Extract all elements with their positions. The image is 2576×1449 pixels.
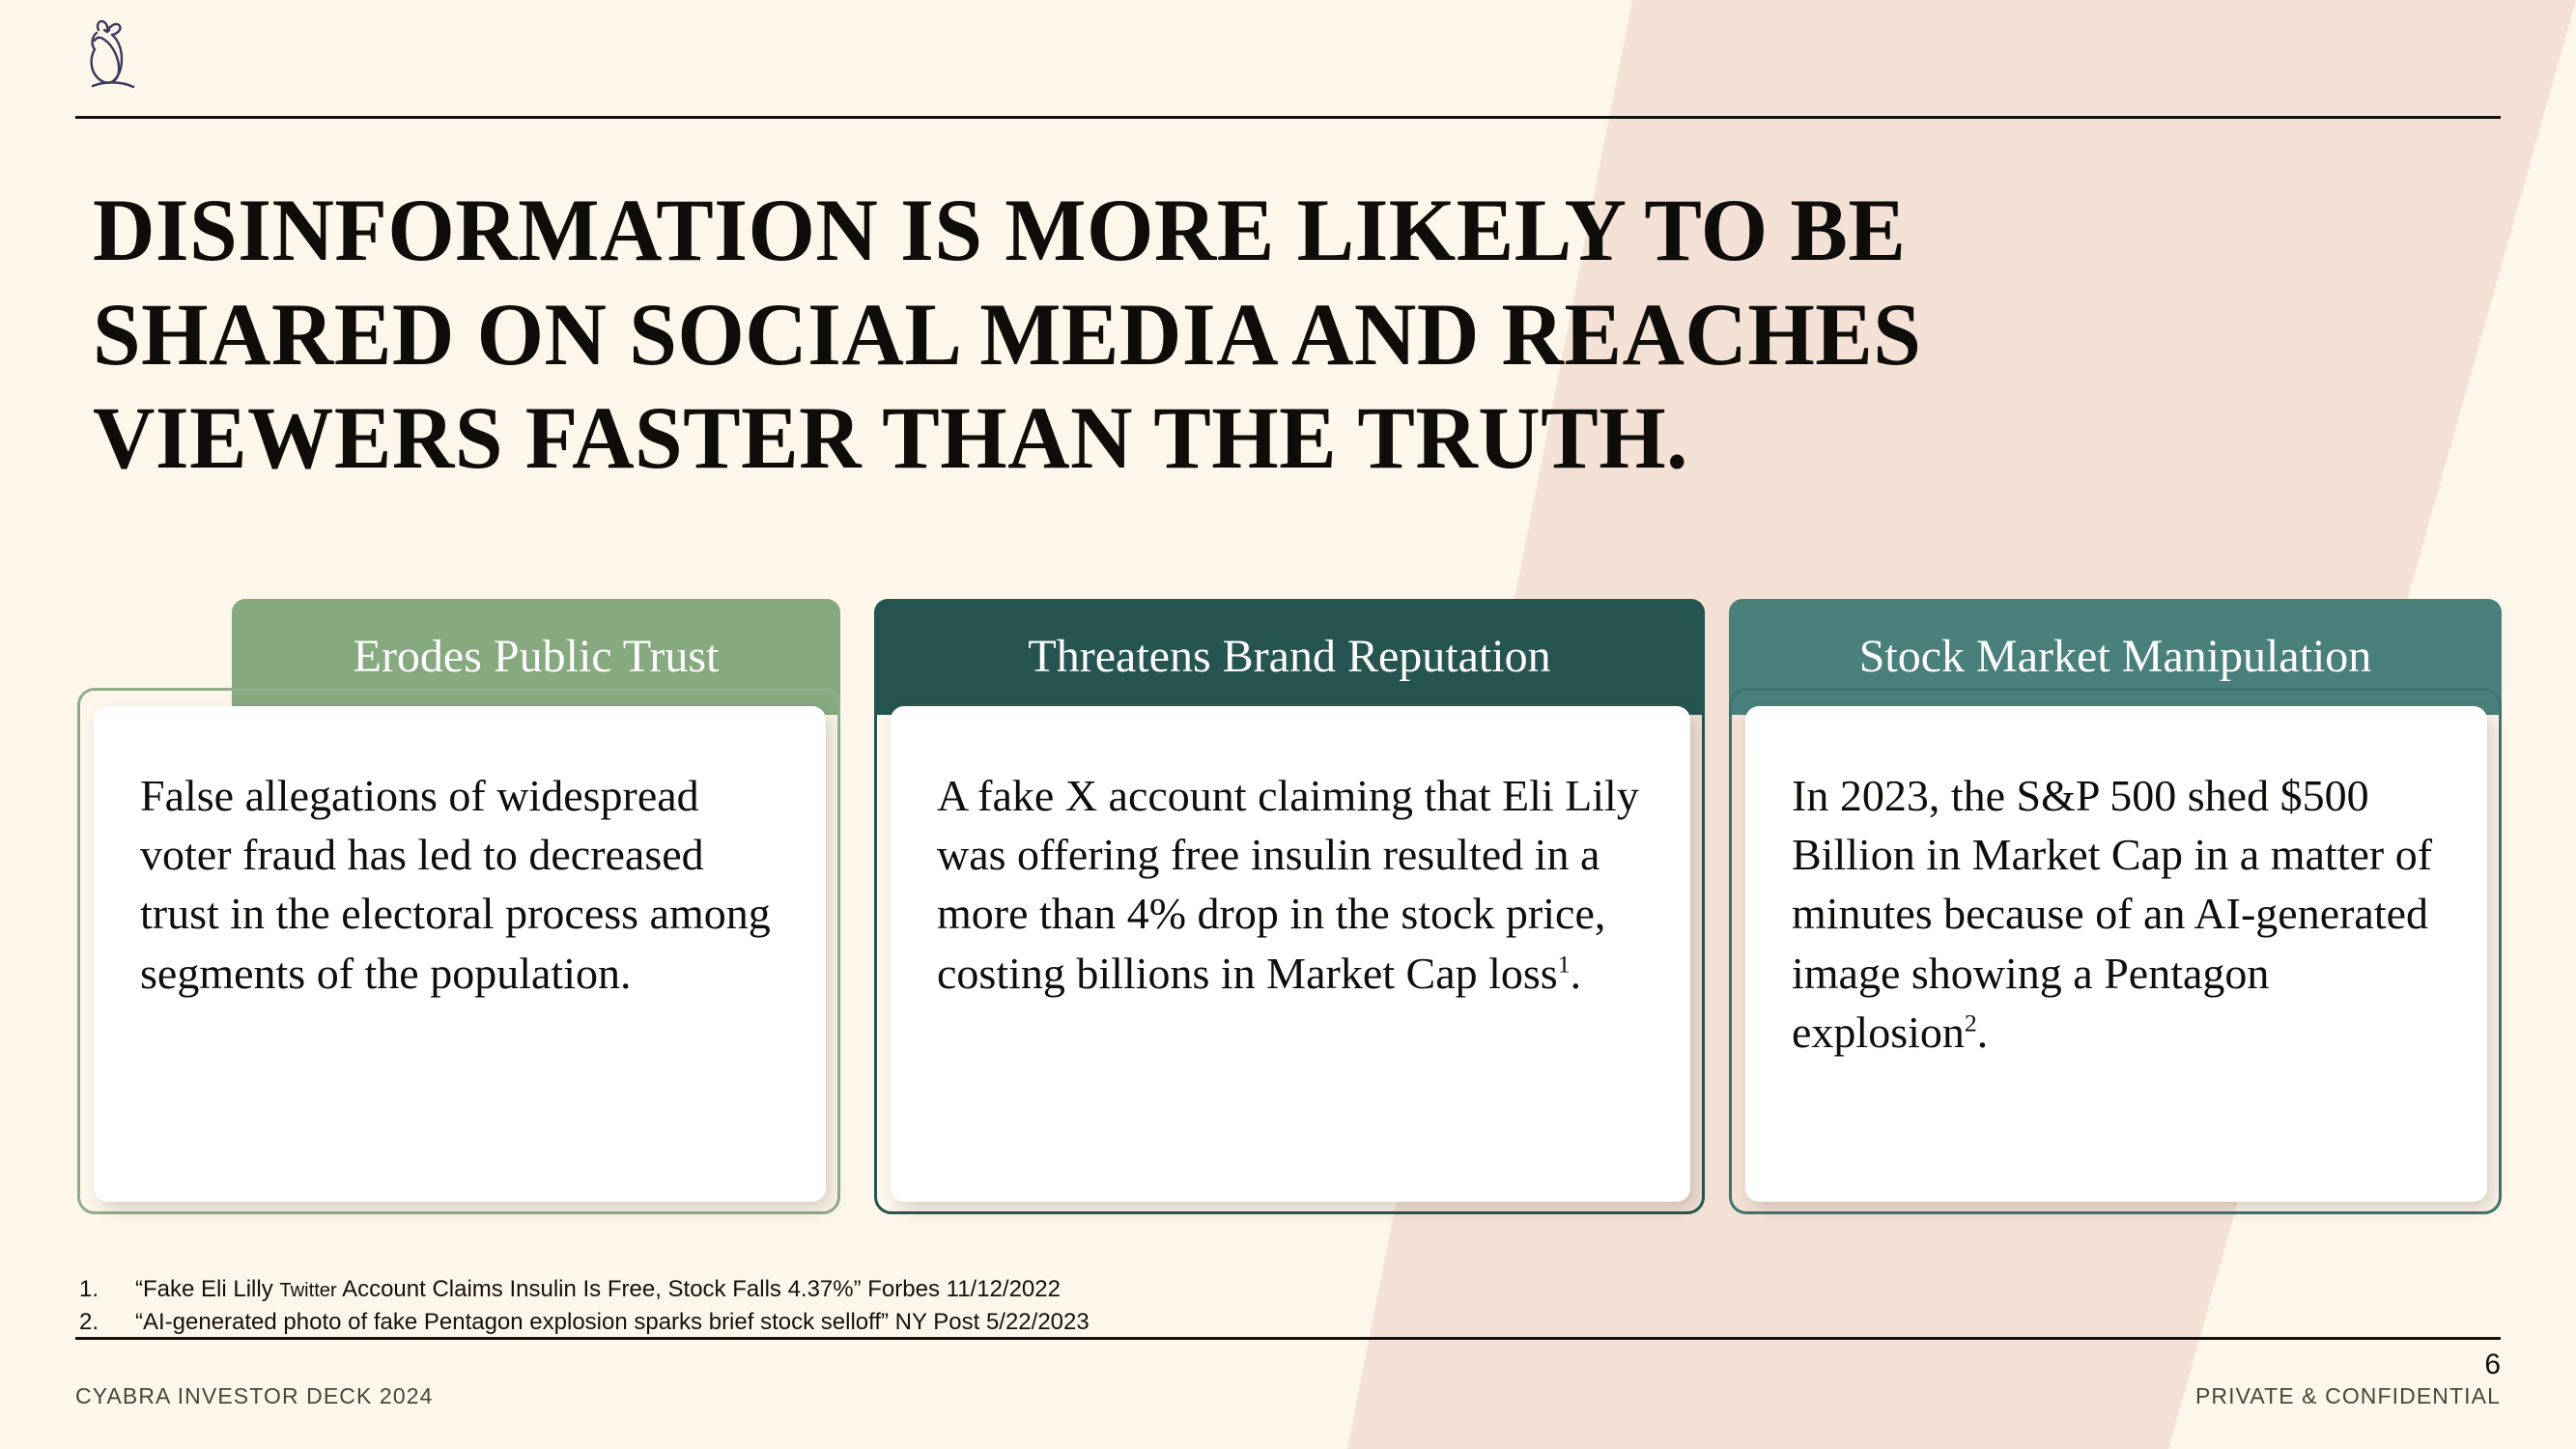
footnote-text-1: “Fake Eli Lilly Twitter Account Claims I… [135, 1273, 1061, 1306]
card-frame-1: False allegations of widespread voter fr… [77, 688, 840, 1214]
footnote-part1-1: “Fake Eli Lilly [135, 1276, 279, 1302]
card-stock-market-manipulation: Stock Market Manipulation In 2023, the S… [1729, 599, 2502, 1275]
footnote-small-1: Twitter [279, 1280, 336, 1301]
card-header-label-3: Stock Market Manipulation [1859, 634, 2372, 680]
card-body-text-1: False allegations of widespread voter fr… [140, 771, 771, 998]
owl-logo-icon [75, 14, 145, 97]
footnotes-list: 1. “Fake Eli Lilly Twitter Account Claim… [79, 1273, 2011, 1339]
card-body-superscript-3: 2 [1965, 1009, 1977, 1037]
card-threatens-brand-reputation: Threatens Brand Reputation A fake X acco… [874, 599, 1705, 1275]
card-inner-panel-2: A fake X account claiming that Eli Lily … [891, 706, 1690, 1202]
page-title: DISINFORMATION IS MORE LIKELY TO BE SHAR… [93, 179, 2136, 491]
card-body-text-3: In 2023, the S&P 500 shed $500 Billion i… [1792, 771, 2432, 1057]
card-inner-panel-1: False allegations of widespread voter fr… [94, 706, 826, 1202]
card-body-tail-3: . [1977, 1008, 1989, 1057]
card-body-text-2: A fake X account claiming that Eli Lily … [937, 771, 1639, 998]
footer-confidential-label: PRIVATE & CONFIDENTIAL [2195, 1383, 2501, 1409]
footnote-item: 2. “AI-generated photo of fake Pentagon … [79, 1306, 2011, 1339]
card-body-3: In 2023, the S&P 500 shed $500 Billion i… [1792, 766, 2441, 1062]
footer-deck-label: CYABRA INVESTOR DECK 2024 [75, 1383, 434, 1409]
footnote-part2-1: Account Claims Insulin Is Free, Stock Fa… [337, 1276, 1061, 1302]
card-body-superscript-2: 1 [1558, 950, 1571, 978]
card-header-label-2: Threatens Brand Reputation [1028, 634, 1550, 680]
footnote-part1-2: “AI-generated photo of fake Pentagon exp… [135, 1309, 1090, 1335]
owl-logo-svg [75, 14, 145, 97]
card-frame-2: A fake X account claiming that Eli Lily … [874, 688, 1705, 1214]
page-number: 6 [2484, 1349, 2501, 1381]
footnote-item: 1. “Fake Eli Lilly Twitter Account Claim… [79, 1273, 2011, 1306]
card-body-1: False allegations of widespread voter fr… [140, 766, 779, 1003]
footer-divider [75, 1337, 2501, 1340]
slide: DISINFORMATION IS MORE LIKELY TO BE SHAR… [0, 0, 2576, 1449]
card-erodes-public-trust: Erodes Public Trust False allegations of… [77, 599, 840, 1275]
card-body-tail-2: . [1571, 949, 1582, 998]
footnote-text-2: “AI-generated photo of fake Pentagon exp… [135, 1306, 1090, 1339]
card-frame-3: In 2023, the S&P 500 shed $500 Billion i… [1729, 688, 2502, 1214]
card-body-2: A fake X account claiming that Eli Lily … [937, 766, 1644, 1003]
cards-row: Erodes Public Trust False allegations of… [0, 599, 2576, 1294]
card-header-label-1: Erodes Public Trust [354, 634, 720, 680]
header-divider [75, 116, 2501, 119]
footnote-number-1: 1. [79, 1273, 135, 1306]
footnote-number-2: 2. [79, 1306, 135, 1339]
card-inner-panel-3: In 2023, the S&P 500 shed $500 Billion i… [1745, 706, 2487, 1202]
